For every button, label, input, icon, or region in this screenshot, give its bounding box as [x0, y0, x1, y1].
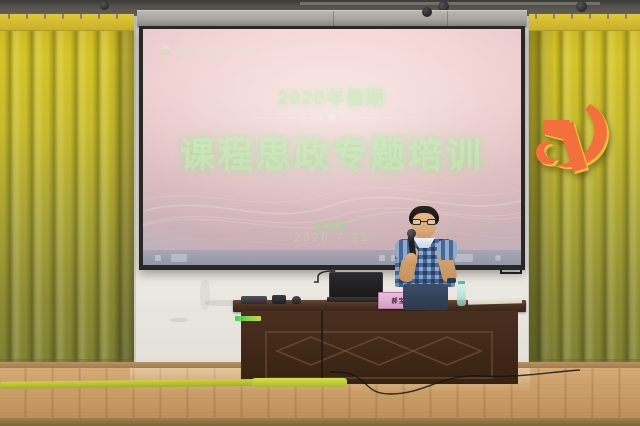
podium-diamond-ornament [271, 329, 487, 369]
curtain-left-hooks [0, 14, 134, 20]
desk-remote[interactable] [241, 296, 267, 304]
divider-dot [351, 116, 354, 119]
podium-status-leds [235, 316, 261, 321]
speaker-person [383, 206, 469, 306]
taskbar-icon [155, 255, 161, 261]
taskbar-icon [495, 255, 501, 261]
laptop-screen [329, 272, 383, 298]
slide-institution-logo: 南京机电职业技术学院 [159, 45, 260, 58]
desk-mouse[interactable] [292, 296, 301, 304]
divider-line-right [357, 117, 452, 118]
microphone-head-icon [406, 228, 416, 238]
divider-dot [342, 116, 345, 119]
ceiling-light-icon [576, 1, 587, 12]
laptop[interactable] [327, 272, 385, 304]
floor-cable [330, 368, 580, 404]
curtain-right-hooks [529, 14, 640, 20]
slide-title: 课程思政专题培训 [143, 127, 521, 178]
glasses-icon [412, 219, 436, 225]
institution-logo-text: 南京机电职业技术学院 [177, 46, 260, 57]
wall-scuff [170, 318, 188, 322]
wall-seam [134, 16, 136, 371]
papers-on-desk[interactable] [468, 296, 522, 304]
taskbar-icon [171, 254, 187, 262]
podium-seam [321, 311, 323, 384]
person-right-sleeve [437, 240, 457, 260]
housing-seam [447, 11, 448, 27]
person-trousers [403, 284, 448, 310]
divider-dot [310, 116, 313, 119]
desk-device[interactable] [272, 295, 286, 304]
slide-divider [212, 113, 452, 121]
slide-subtitle: 2020年暑期 [143, 84, 521, 110]
curtain-left-shadow [108, 14, 134, 370]
divider-dot [319, 116, 322, 119]
projector-screen-housing[interactable] [137, 10, 527, 27]
curtain-left [0, 14, 134, 370]
cpc-party-emblem-icon [527, 98, 619, 196]
ceiling-pipe [300, 2, 600, 5]
divider-diamond-icon [328, 113, 336, 121]
projector-mount-icon [422, 7, 432, 17]
ceiling-light-icon [100, 1, 109, 10]
laptop-keyboard [327, 297, 385, 302]
divider-line-left [212, 117, 307, 118]
wall-scuff [200, 280, 210, 310]
wristwatch [447, 278, 456, 283]
photo-scene: 南京机电职业技术学院 2020年暑期 课程思政专题培训 郝宝明 2020.7.2… [0, 0, 640, 426]
floor-front-edge [0, 418, 640, 426]
housing-seam [333, 11, 334, 27]
institution-logo-icon [159, 45, 172, 58]
